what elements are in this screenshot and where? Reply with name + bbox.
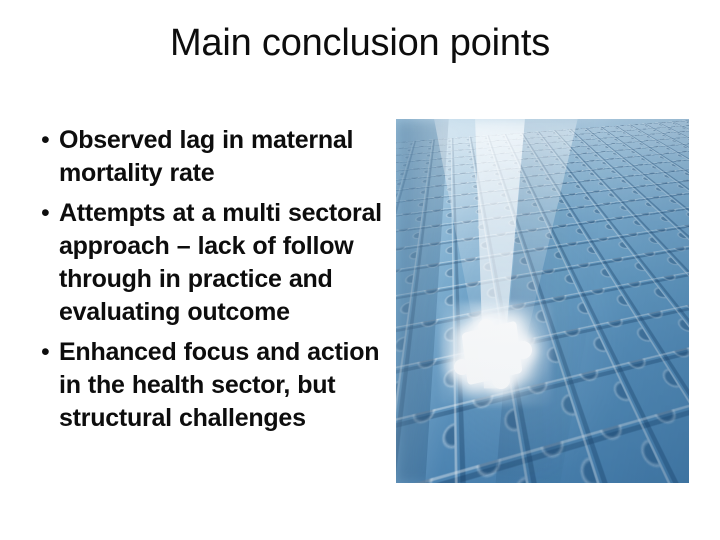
bullet-marker-icon: • — [36, 124, 59, 157]
slide-canvas: Main conclusion points • Observed lag in… — [0, 0, 720, 540]
list-item: • Attempts at a multi sectoral approach … — [36, 197, 384, 329]
bullet-marker-icon: • — [36, 197, 59, 230]
bullet-list: • Observed lag in maternal mortality rat… — [36, 124, 384, 442]
list-item: • Enhanced focus and action in the healt… — [36, 336, 384, 435]
list-item-text: Observed lag in maternal mortality rate — [59, 124, 384, 190]
list-item: • Observed lag in maternal mortality rat… — [36, 124, 384, 190]
jigsaw-puzzle-photo — [396, 119, 689, 483]
puzzle-vignette — [396, 119, 689, 483]
list-item-text: Enhanced focus and action in the health … — [59, 336, 384, 435]
page-title: Main conclusion points — [60, 20, 660, 66]
bullet-marker-icon: • — [36, 336, 59, 369]
list-item-text: Attempts at a multi sectoral approach – … — [59, 197, 384, 329]
